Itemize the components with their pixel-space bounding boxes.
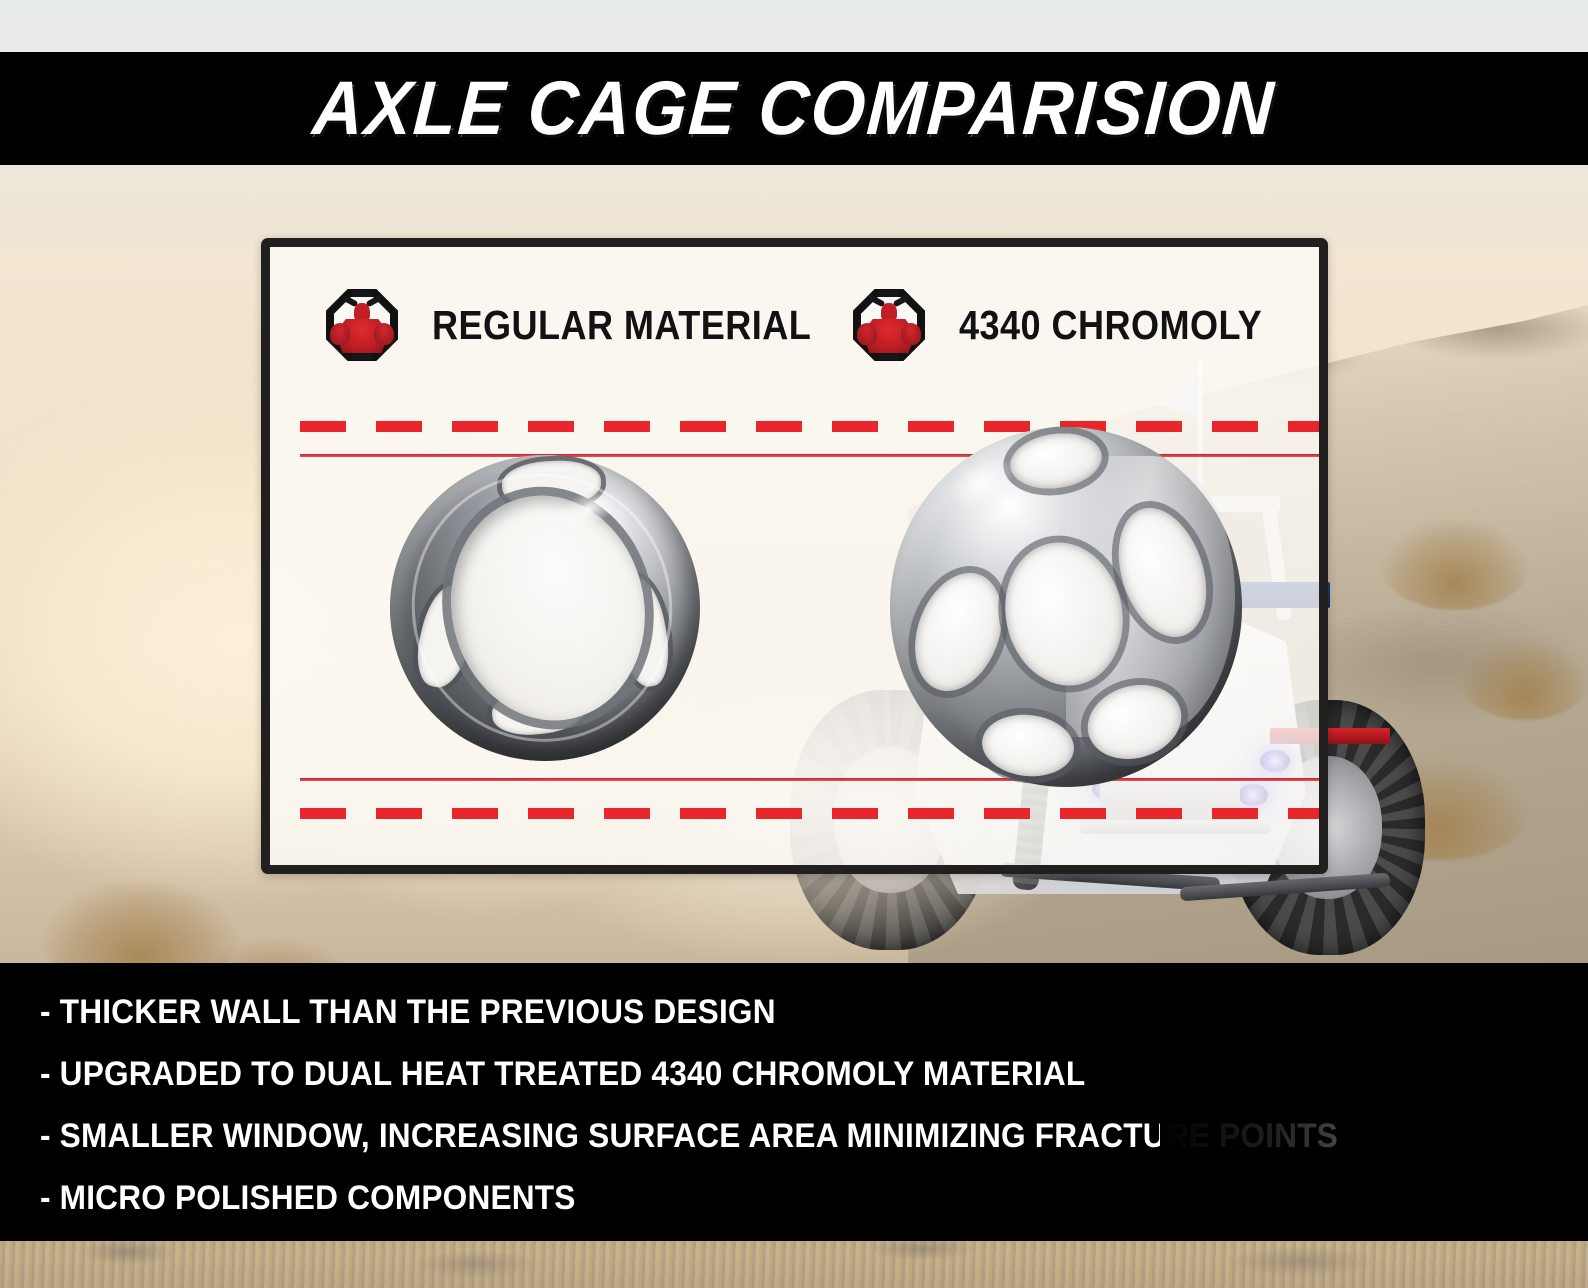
feature-bullet: - SMALLER WINDOW, INCREASING SURFACE ARE…	[40, 1119, 1480, 1153]
wall-thickness-line-bottom	[300, 778, 1328, 781]
column-label-regular: REGULAR MATERIAL	[432, 305, 811, 346]
comparison-column-regular: REGULAR MATERIAL	[326, 289, 863, 361]
comparison-panel: REGULAR MATERIAL 43	[261, 238, 1328, 874]
outer-boundary-dashed-line-bottom	[300, 808, 1328, 819]
poster-canvas: AXLE CAGE COMPARISION	[0, 0, 1588, 1288]
feature-bullet: - MICRO POLISHED COMPONENTS	[40, 1181, 1480, 1215]
feature-list-bar: - THICKER WALL THAN THE PREVIOUS DESIGN …	[0, 963, 1588, 1241]
comparison-column-chromoly: 4340 CHROMOLY	[853, 289, 1304, 361]
page-title: AXLE CAGE COMPARISION	[311, 71, 1278, 147]
axle-cage-chromoly-icon	[890, 427, 1242, 787]
outer-boundary-dashed-line-top	[300, 421, 1328, 432]
title-bar: AXLE CAGE COMPARISION	[0, 52, 1588, 165]
comparison-header-row: REGULAR MATERIAL 43	[270, 289, 1319, 373]
devil-logo-icon	[326, 289, 398, 361]
feature-bullet: - THICKER WALL THAN THE PREVIOUS DESIGN	[40, 995, 1480, 1029]
feature-bullet: - UPGRADED TO DUAL HEAT TREATED 4340 CHR…	[40, 1057, 1480, 1091]
wall-thickness-line-top	[300, 454, 1328, 457]
axle-cage-regular-icon	[390, 455, 700, 761]
devil-logo-icon	[853, 289, 925, 361]
column-label-chromoly: 4340 CHROMOLY	[959, 305, 1262, 346]
desert-brush-icon	[1460, 640, 1588, 720]
